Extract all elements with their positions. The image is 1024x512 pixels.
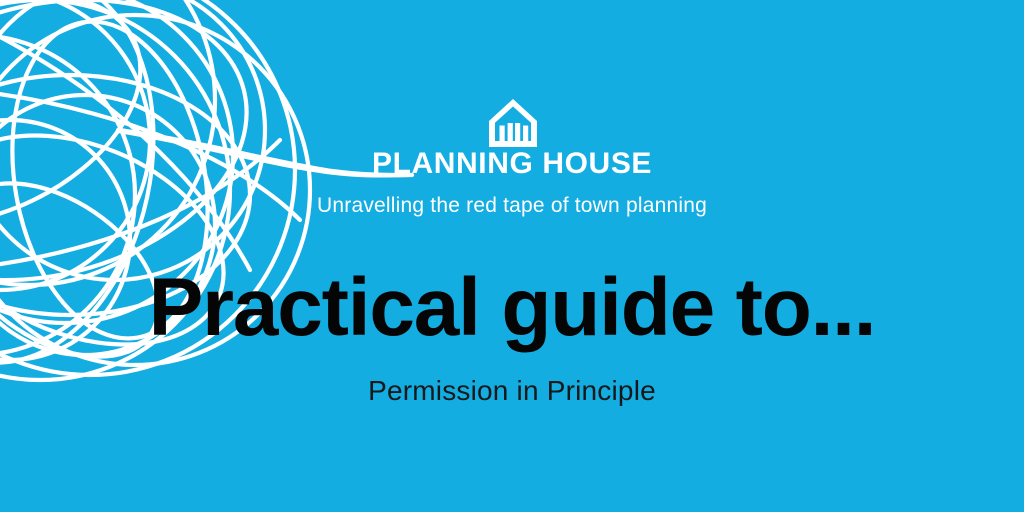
- brand-wordmark: PLANNING HOUSE: [0, 148, 1024, 180]
- house-outline-icon: [489, 99, 537, 147]
- brand-tagline: Unravelling the red tape of town plannin…: [0, 193, 1024, 219]
- promo-banner: PLANNING HOUSE Unravelling the red tape …: [0, 0, 1024, 512]
- unravelled-thread-line: [0, 0, 1024, 512]
- page-title: Practical guide to...: [0, 262, 1024, 354]
- page-subtitle: Permission in Principle: [0, 373, 1024, 409]
